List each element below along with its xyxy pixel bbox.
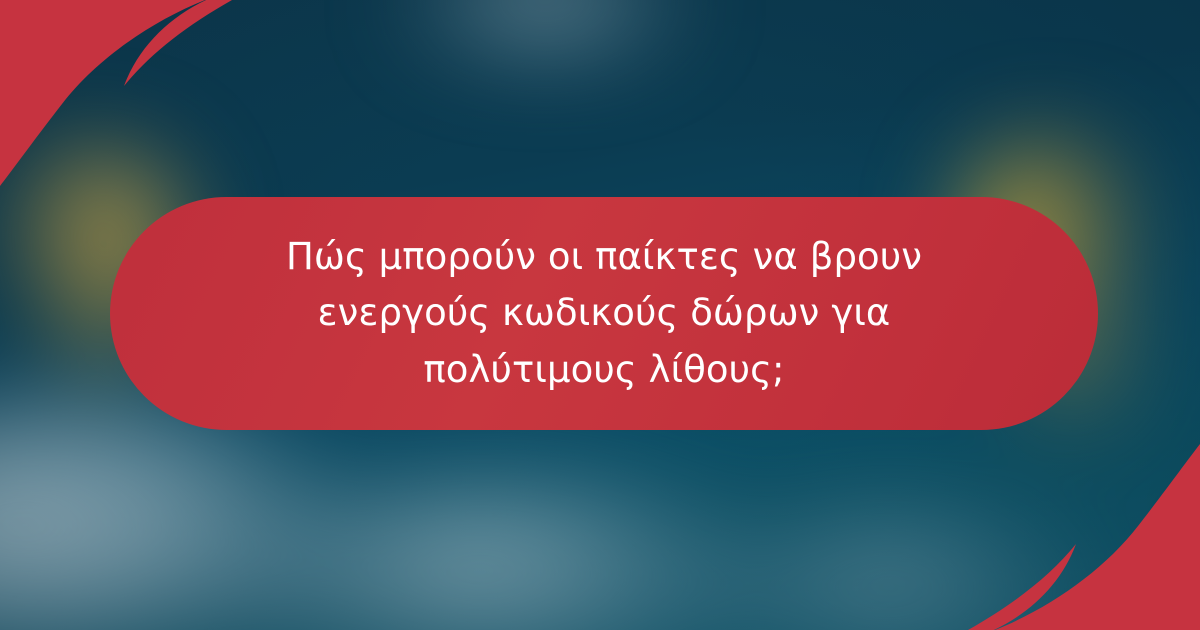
social-card-canvas: Πώς μπορούν οι παίκτες να βρουν ενεργούς… [0, 0, 1200, 630]
question-text: Πώς μπορούν οι παίκτες να βρουν ενεργούς… [184, 229, 1024, 398]
question-card: Πώς μπορούν οι παίκτες να βρουν ενεργούς… [110, 197, 1098, 430]
